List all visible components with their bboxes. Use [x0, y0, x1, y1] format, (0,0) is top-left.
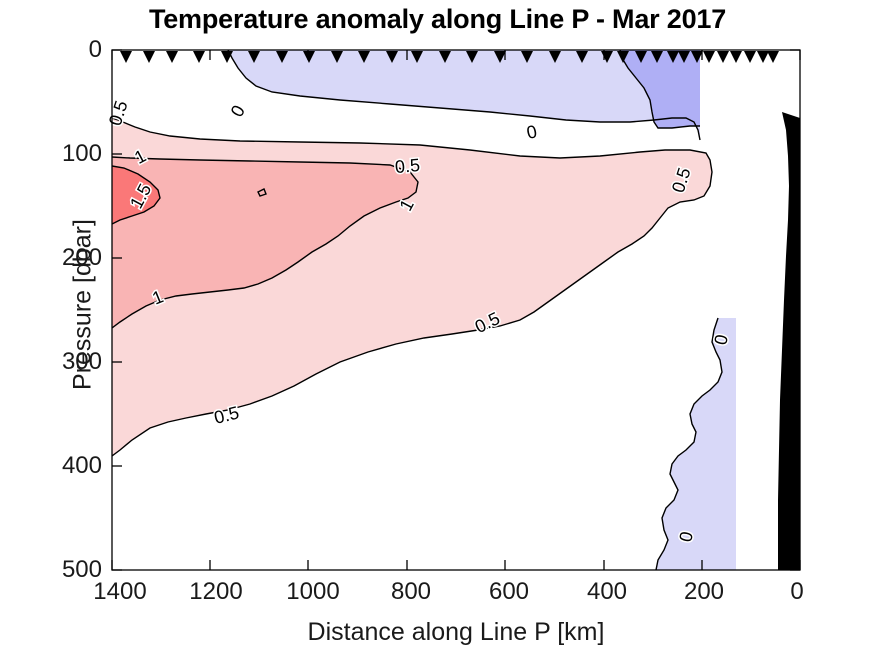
x-tick-label: 0: [790, 578, 803, 606]
contour-plot: 0.5 0 1 1.5 0 0.5 1 0.5 1 0.5 0.5 0 0: [0, 0, 875, 656]
x-axis-label: Distance along Line P [km]: [112, 618, 800, 647]
y-tick-label: 0: [30, 36, 102, 64]
figure-canvas: Temperature anomaly along Line P - Mar 2…: [0, 0, 875, 656]
x-tick-label: 600: [489, 578, 529, 606]
y-axis-label: Pressure [dbar]: [69, 95, 98, 515]
y-tick-label: 500: [30, 556, 102, 584]
x-tick-label: 400: [587, 578, 627, 606]
x-tick-label: 1200: [189, 578, 242, 606]
x-tick-label: 200: [684, 578, 724, 606]
x-tick-label: 1000: [286, 578, 339, 606]
x-tick-label: 800: [391, 578, 431, 606]
contour-label: 0.5: [394, 155, 421, 177]
